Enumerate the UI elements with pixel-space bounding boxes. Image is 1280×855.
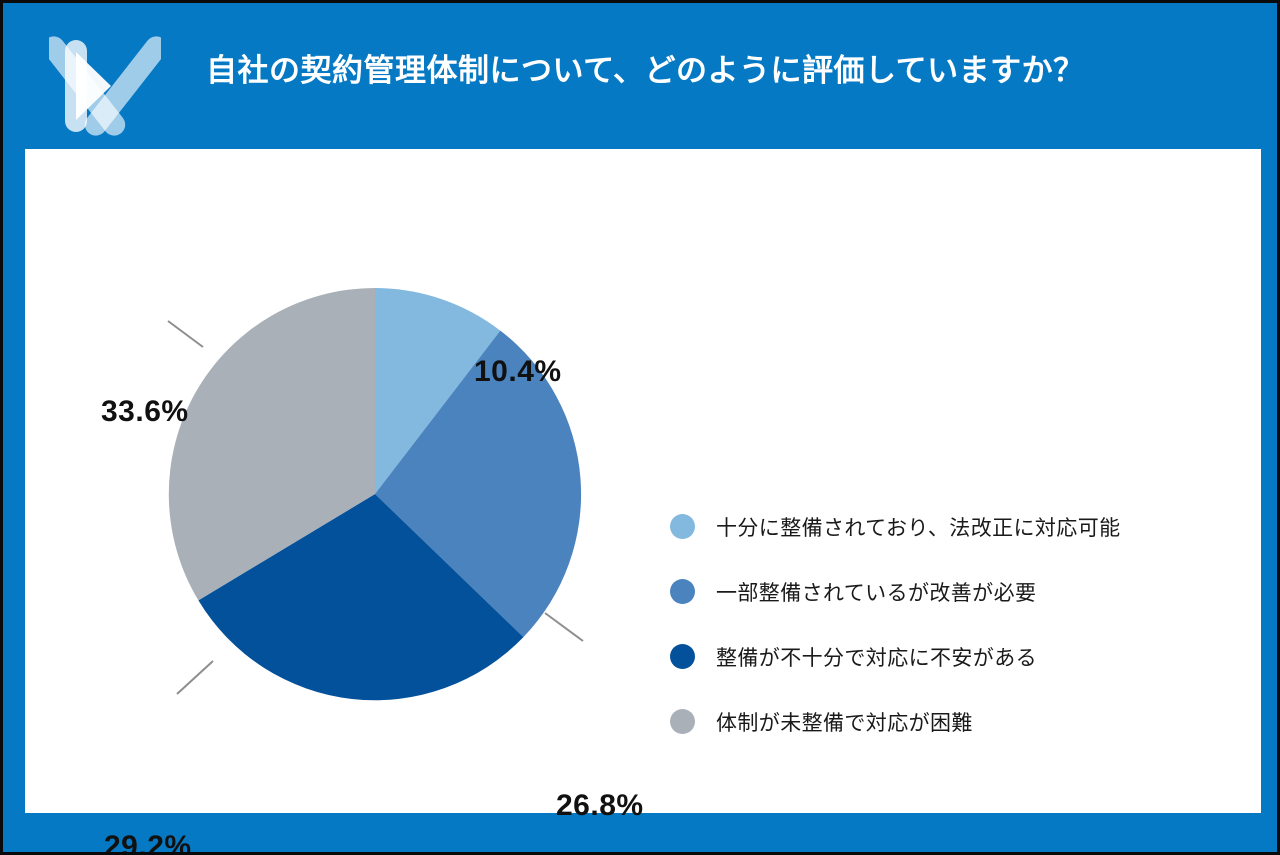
slice-value-label-1: 10.4% [474,355,562,389]
legend-label-2: 一部整備されているが改善が必要 [716,577,1036,607]
legend-item-3: 整備が不十分で対応に不安がある [670,624,1250,689]
legend-item-1: 十分に整備されており、法改正に対応可能 [670,494,1250,559]
content-card: 10.4% 33.6% 26.8% 29.2% 十分に整備されており、法改正に対… [25,149,1261,813]
legend-label-3: 整備が不十分で対応に不安がある [716,642,1037,672]
legend-swatch-icon-4 [670,709,695,734]
legend-item-4: 体制が未整備で対応が困難 [670,689,1250,754]
pie-graphic [165,284,585,704]
slice-value-label-4: 33.6% [101,395,189,429]
legend-swatch-icon-3 [670,644,695,669]
legend-item-2: 一部整備されているが改善が必要 [670,559,1250,624]
legend-swatch-icon-1 [670,514,695,539]
pie-chart: 10.4% 33.6% 26.8% 29.2% 十分に整備されており、法改正に対… [25,149,1261,813]
slide-header: 自社の契約管理体制について、どのように評価していますか？ [3,3,1280,149]
slice-value-label-3: 29.2% [104,830,192,855]
k-mark-logo-icon [49,30,161,142]
legend-label-1: 十分に整備されており、法改正に対応可能 [716,512,1121,542]
slice-value-label-2: 26.8% [556,789,644,823]
legend-swatch-icon-2 [670,579,695,604]
legend-label-4: 体制が未整備で対応が困難 [716,707,973,737]
slide-root: 自社の契約管理体制について、どのように評価していますか？ [0,0,1280,855]
chart-legend: 十分に整備されており、法改正に対応可能 一部整備されているが改善が必要 整備が不… [670,494,1250,754]
page-title: 自社の契約管理体制について、どのように評価していますか？ [206,52,1246,91]
